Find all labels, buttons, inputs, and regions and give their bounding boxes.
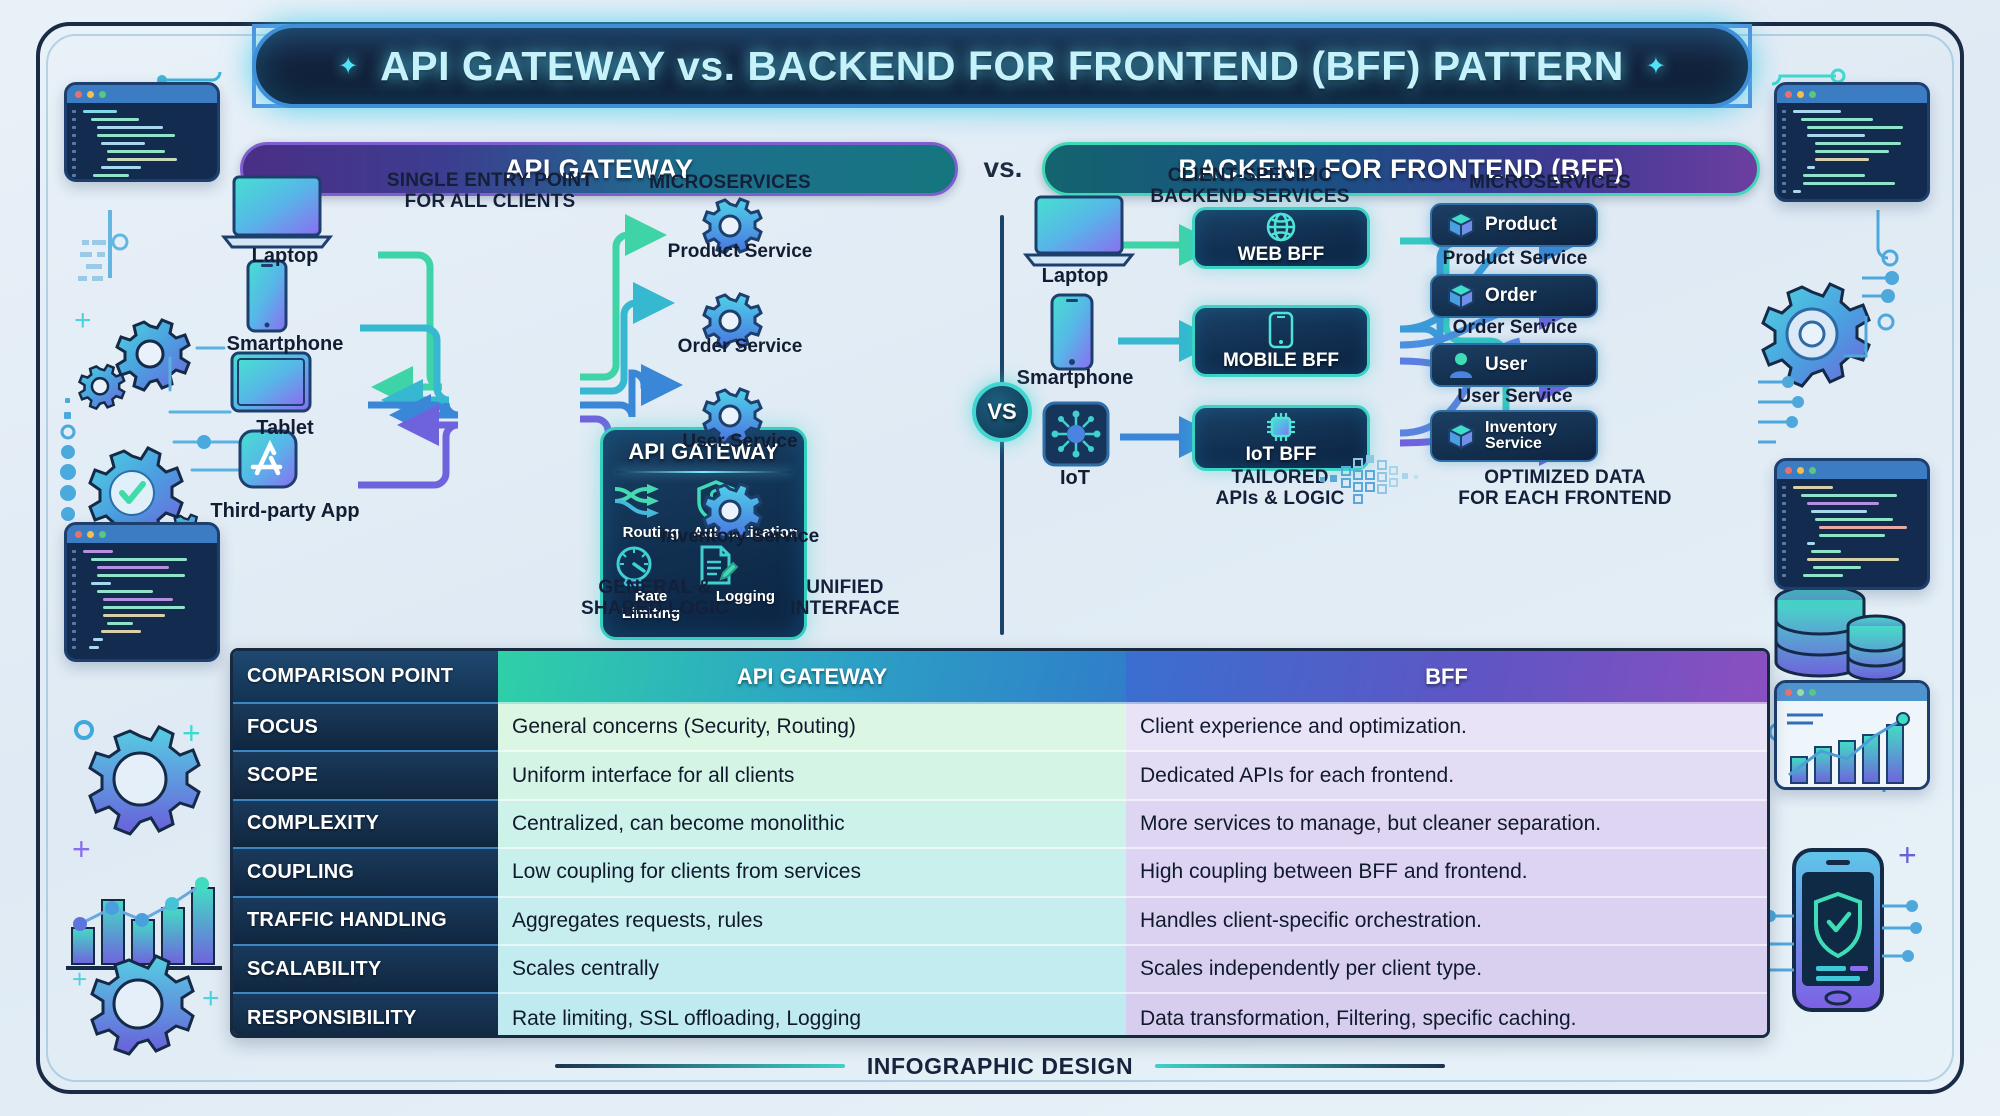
maximize-dot [99, 91, 106, 98]
line-numbers [72, 550, 80, 654]
right-kicker-text: CLIENT-SPECIFIC BACKEND SERVICES [1100, 165, 1400, 208]
close-dot [1785, 467, 1792, 474]
mini-bar-chart-icon [1777, 701, 1927, 790]
footer: INFOGRAPHIC DESIGN [0, 1046, 2000, 1086]
row-gateway-cell: Scales centrally [498, 946, 1126, 994]
left-footnote-general: GENERAL & SHARED LOGIC [540, 577, 770, 620]
line-numbers [1782, 486, 1790, 582]
maximize-dot [99, 531, 106, 538]
right-service-chip-order-label: Order [1485, 286, 1537, 305]
left-service-label-order: Order Service [620, 336, 860, 358]
laptop-icon [1026, 197, 1132, 265]
maximize-dot [1809, 91, 1816, 98]
left-service-label-inventory: Inventory Service [620, 526, 860, 548]
table-row: FOCUS General concerns (Security, Routin… [233, 704, 1767, 752]
maximize-dot [1809, 467, 1816, 474]
page-title: API GATEWAY vs. BACKEND FOR FRONTEND (BF… [380, 43, 1624, 90]
chart-body [1777, 701, 1927, 787]
row-gateway-cell: Centralized, can become monolithic [498, 801, 1126, 849]
table-row: SCALABILITY Scales centrally Scales inde… [233, 946, 1767, 994]
window-titlebar [1777, 683, 1927, 701]
smartphone-icon [1268, 311, 1294, 349]
close-dot [75, 531, 82, 538]
table-row: SCOPE Uniform interface for all clients … [233, 752, 1767, 800]
right-client-label-iot: IoT [990, 467, 1160, 490]
box-icon [1446, 210, 1476, 240]
decor-code-window-api [1774, 458, 1930, 590]
table-row: TRAFFIC HANDLING Aggregates requests, ru… [233, 898, 1767, 946]
person-icon [1446, 350, 1476, 380]
svg-text:+: + [72, 831, 91, 867]
row-point-cell: COMPLEXITY [233, 801, 498, 849]
right-service-chip-inventory-label: Inventory Service [1485, 420, 1596, 453]
right-client-label-laptop: Laptop [990, 265, 1160, 288]
table-row: RESPONSIBILITY Rate limiting, SSL offloa… [233, 994, 1767, 1038]
minimize-dot [1797, 91, 1804, 98]
sparkle-right-icon: ✦ [1646, 52, 1666, 81]
row-point-cell: TRAFFIC HANDLING [233, 898, 498, 946]
window-titlebar [1777, 85, 1927, 103]
row-bff-cell: Scales independently per client type. [1126, 946, 1767, 994]
smartphone-icon [248, 261, 286, 331]
row-gateway-cell: Aggregates requests, rules [498, 898, 1126, 946]
decor-chart-window [1774, 680, 1930, 790]
box-icon [1446, 421, 1476, 451]
footer-line-left [555, 1064, 845, 1068]
decor-code-window-html [64, 82, 220, 182]
row-point-cell: COUPLING [233, 849, 498, 897]
box-icon [1446, 281, 1476, 311]
left-client-label-smartphone: Smartphone [210, 333, 360, 356]
line-numbers [1782, 110, 1790, 198]
left-client-label-third-party: Third-party App [190, 500, 380, 523]
main-title-bar: ✦ API GATEWAY vs. BACKEND FOR FRONTEND (… [252, 24, 1752, 108]
code-body [67, 543, 217, 659]
minimize-dot [1797, 467, 1804, 474]
right-microservices-title: MICROSERVICES [1400, 172, 1700, 193]
laptop-icon [224, 177, 330, 247]
svg-text:+: + [1898, 837, 1917, 873]
left-footnote-unified: UNIFIED INTERFACE [755, 577, 935, 620]
table-header-api-gateway: API GATEWAY [498, 651, 1126, 704]
globe-icon [1265, 211, 1297, 243]
right-service-chip-inventory: Inventory Service [1430, 410, 1598, 462]
versus-label: vs. [968, 152, 1038, 184]
right-service-chip-product: Product [1430, 203, 1598, 247]
left-client-label-laptop: Laptop [210, 245, 360, 268]
right-service-chip-order: Order [1430, 274, 1598, 318]
right-service-label-product: Product Service [1420, 248, 1610, 270]
row-point-cell: FOCUS [233, 704, 498, 752]
mobile-bff-box: MOBILE BFF [1192, 305, 1370, 377]
table-header-comparison-point: COMPARISON POINT [233, 651, 498, 704]
svg-text:+: + [182, 715, 201, 751]
row-bff-cell: Data transformation, Filtering, specific… [1126, 994, 1767, 1038]
shuffle-routing-icon [609, 479, 667, 523]
minimize-dot [87, 531, 94, 538]
svg-text:+: + [202, 982, 220, 1015]
decor-code-window-js [64, 522, 220, 662]
left-service-label-product: Product Service [620, 241, 860, 263]
left-services-gears-svg [670, 200, 790, 620]
web-bff-box: WEB BFF [1192, 207, 1370, 269]
code-body [1777, 479, 1927, 587]
row-bff-cell: High coupling between BFF and frontend. [1126, 849, 1767, 897]
row-gateway-cell: General concerns (Security, Routing) [498, 704, 1126, 752]
close-dot [1785, 91, 1792, 98]
left-client-label-tablet: Tablet [210, 417, 360, 440]
right-footnote-optimized: OPTIMIZED DATA FOR EACH FRONTEND [1410, 467, 1720, 510]
smartphone-icon [1052, 295, 1092, 369]
table-row: COUPLING Low coupling for clients from s… [233, 849, 1767, 897]
close-dot [1785, 689, 1792, 696]
minimize-dot [87, 91, 94, 98]
close-dot [75, 91, 82, 98]
left-kicker-text: SINGLE ENTRY POINT FOR ALL CLIENTS [360, 170, 620, 213]
right-service-label-order: Order Service [1420, 317, 1610, 339]
pixel-dots-ornament [1320, 455, 1430, 505]
minimize-dot [1797, 689, 1804, 696]
comparison-table: COMPARISON POINT API GATEWAY BFF FOCUS G… [230, 648, 1770, 1038]
code-body [67, 103, 217, 179]
svg-text:+: + [74, 304, 92, 337]
web-bff-label: WEB BFF [1238, 244, 1325, 266]
table-header-bff: BFF [1126, 651, 1767, 704]
row-bff-cell: Handles client-specific orchestration. [1126, 898, 1767, 946]
row-bff-cell: Dedicated APIs for each frontend. [1126, 752, 1767, 800]
row-point-cell: SCALABILITY [233, 946, 498, 994]
right-decoration-column: + [1758, 60, 1958, 1050]
iot-hub-icon [1044, 403, 1108, 465]
right-service-chip-product-label: Product [1485, 215, 1557, 234]
right-service-label-user: User Service [1420, 386, 1610, 408]
row-bff-cell: More services to manage, but cleaner sep… [1126, 801, 1767, 849]
window-titlebar [1777, 461, 1927, 479]
window-titlebar [67, 525, 217, 543]
infographic-root: + + + [0, 0, 2000, 1116]
svg-text:+: + [72, 964, 87, 994]
right-service-chip-user-label: User [1485, 355, 1527, 374]
window-titlebar [67, 85, 217, 103]
line-numbers [72, 110, 80, 182]
footer-text: INFOGRAPHIC DESIGN [867, 1053, 1133, 1080]
vs-badge: VS [972, 382, 1032, 442]
left-service-label-user: User Service [620, 431, 860, 453]
row-bff-cell: Client experience and optimization. [1126, 704, 1767, 752]
decor-code-window-json [1774, 82, 1930, 202]
mobile-bff-label: MOBILE BFF [1223, 350, 1339, 372]
maximize-dot [1809, 689, 1816, 696]
row-gateway-cell: Low coupling for clients from services [498, 849, 1126, 897]
row-gateway-cell: Uniform interface for all clients [498, 752, 1126, 800]
row-point-cell: RESPONSIBILITY [233, 994, 498, 1038]
sparkle-left-icon: ✦ [338, 52, 358, 81]
row-gateway-cell: Rate limiting, SSL offloading, Logging [498, 994, 1126, 1038]
table-row: COMPLEXITY Centralized, can become monol… [233, 801, 1767, 849]
chip-icon [1265, 411, 1297, 443]
table-header-row: COMPARISON POINT API GATEWAY BFF [233, 651, 1767, 704]
left-microservices-title: MICROSERVICES [590, 172, 870, 193]
row-point-cell: SCOPE [233, 752, 498, 800]
right-service-chip-user: User [1430, 343, 1598, 387]
code-body [1777, 103, 1927, 199]
tablet-icon [232, 353, 310, 411]
footer-line-right [1155, 1064, 1445, 1068]
iot-bff-label: IoT BFF [1246, 444, 1317, 466]
